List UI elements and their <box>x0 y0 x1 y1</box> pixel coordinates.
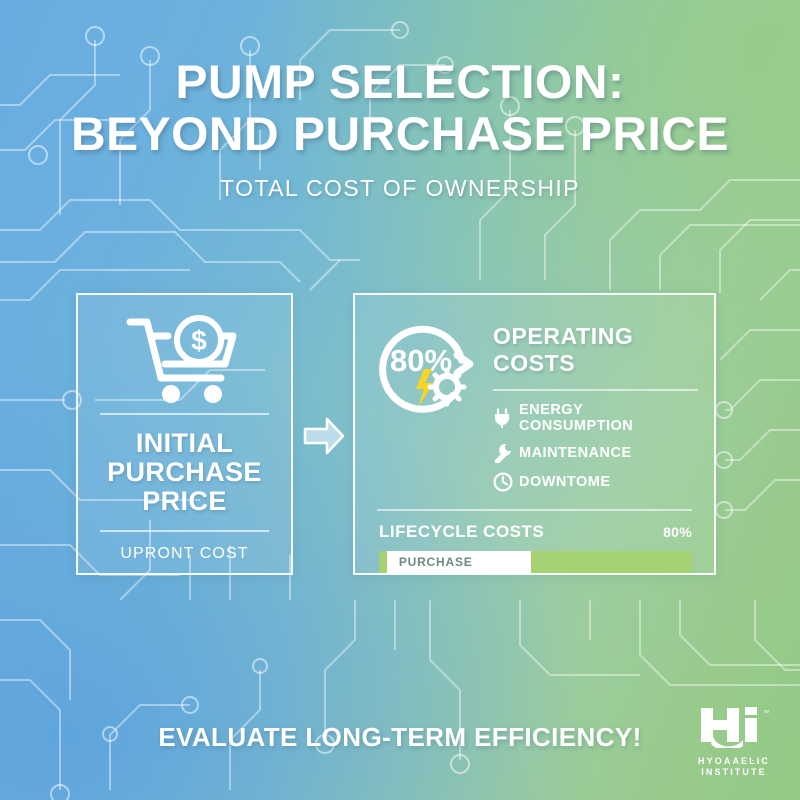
shopping-cart-dollar-icon: $ <box>125 312 245 404</box>
header: PUMP SELECTION: BEYOND PURCHASE PRICE TO… <box>0 58 800 202</box>
initial-purchase-price-subtitle: UPRONT COST <box>78 532 291 563</box>
infographic-canvas: PUMP SELECTION: BEYOND PURCHASE PRICE TO… <box>0 0 800 800</box>
lifecycle-progress-bar: PURCHASE <box>379 551 692 573</box>
logo-line-1: HYOAAEĿIC <box>682 756 786 767</box>
initial-purchase-price-card: $ INITIAL PURCHASE PRICE UPRONT COST <box>76 293 293 575</box>
list-item-label: MAINTENANCE <box>519 445 632 461</box>
badge-value: 80% <box>390 343 452 378</box>
page-title: PUMP SELECTION: BEYOND PURCHASE PRICE <box>0 58 800 158</box>
svg-text:™: ™ <box>763 710 769 717</box>
list-item: ENERGY CONSUMPTION <box>493 402 698 434</box>
power-plug-icon <box>493 408 519 428</box>
cart-icon-wrap: $ <box>78 295 291 413</box>
eighty-percent-badge-icon: 80% <box>369 311 487 419</box>
page-title-line2: BEYOND PURCHASE PRICE <box>0 110 800 158</box>
operating-costs-heading: OPERATING COSTS <box>493 323 698 377</box>
operating-costs-card: 80% <box>353 293 716 575</box>
lifecycle-purchase-segment: PURCHASE <box>387 551 531 573</box>
hydraulic-institute-logo: ™ HYOAAEĿIC INSTITUTE <box>682 706 786 784</box>
operating-costs-divider <box>493 389 698 391</box>
footer-cta: EVALUATE LONG-TERM EFFICIENCY! <box>0 722 800 753</box>
lifecycle-costs-label: LIFECYCLE COSTS <box>379 522 544 542</box>
operating-costs-column: OPERATING COSTS <box>487 311 698 501</box>
operating-costs-top: 80% <box>355 295 714 501</box>
list-item-label: DOWNTOME <box>519 474 611 490</box>
list-item: MAINTENANCE <box>493 443 698 463</box>
initial-purchase-price-title: INITIAL PURCHASE PRICE <box>78 415 291 530</box>
logo-line-2: INSTITUTE <box>682 767 786 778</box>
list-item: DOWNTOME <box>493 472 698 492</box>
lifecycle-percent-label: 80% <box>663 524 692 540</box>
right-arrow-icon <box>303 416 345 456</box>
list-item-label: ENERGY CONSUMPTION <box>519 402 698 434</box>
page-title-line1: PUMP SELECTION: <box>176 55 625 108</box>
hi-logo-icon: ™ <box>699 706 769 748</box>
wrench-icon <box>493 443 519 463</box>
clock-icon <box>493 472 519 492</box>
lifecycle-header: LIFECYCLE COSTS 80% <box>355 511 714 542</box>
page-subtitle: TOTAL COST OF OWNERSHIP <box>0 175 800 202</box>
lifecycle-purchase-label: PURCHASE <box>399 555 473 569</box>
operating-costs-list: ENERGY CONSUMPTION MAINTENANCE <box>493 402 698 492</box>
svg-text:$: $ <box>191 325 207 356</box>
